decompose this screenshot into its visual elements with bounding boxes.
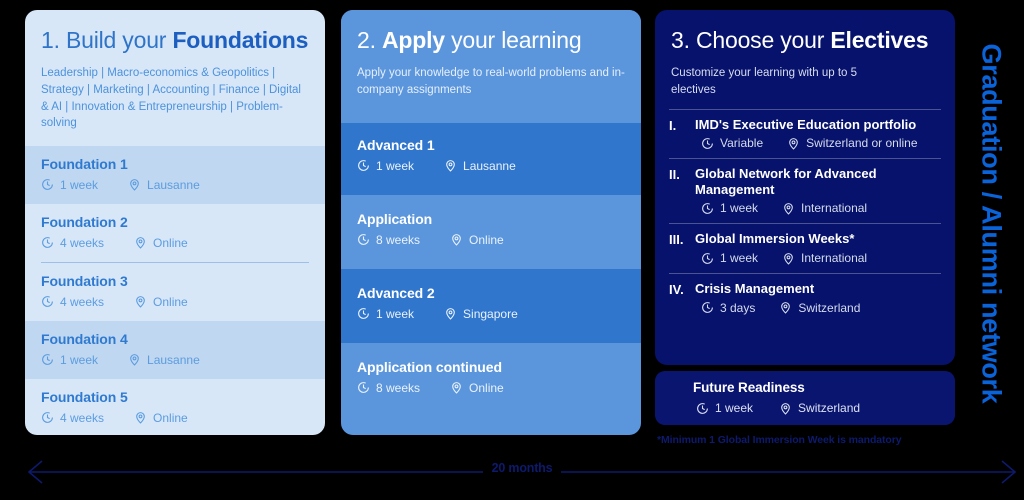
card-foundations-title: 1. Build your Foundations <box>41 28 309 53</box>
location-text: Switzerland <box>798 301 860 315</box>
duration-item: 1 week <box>357 159 414 173</box>
foundation-row-3[interactable]: Foundation 3 4 weeks Online <box>25 263 325 321</box>
duration-item: 1 week <box>701 201 758 215</box>
elective-4-name: Crisis Management <box>695 281 941 297</box>
duration-text: 1 week <box>376 307 414 321</box>
map-pin-icon <box>128 178 141 191</box>
location-item: Online <box>134 236 188 250</box>
duration-item: 4 weeks <box>41 236 104 250</box>
location-text: Lausanne <box>147 353 200 367</box>
map-pin-icon <box>128 353 141 366</box>
location-item: Singapore <box>444 307 518 321</box>
foundation-row-5-name: Foundation 5 <box>41 389 309 405</box>
elective-3-numeral: III. <box>669 231 695 247</box>
clock-icon <box>696 402 709 415</box>
graduation-alumni-label-text: Graduation / Alumni network <box>976 43 1007 403</box>
foundation-row-4-meta: 1 week Lausanne <box>41 353 309 367</box>
elective-item-2[interactable]: II. Global Network for Advanced Manageme… <box>669 158 941 223</box>
map-pin-icon <box>779 402 792 415</box>
location-item: Lausanne <box>128 353 200 367</box>
location-item: Online <box>134 411 188 425</box>
foundation-row-3-name: Foundation 3 <box>41 273 309 289</box>
clock-icon <box>41 295 54 308</box>
location-text: Online <box>153 411 188 425</box>
location-text: International <box>801 201 867 215</box>
card-build-foundations: 1. Build your Foundations Leadership | M… <box>25 10 325 435</box>
clock-icon <box>41 411 54 424</box>
card-foundations-title-plain: 1. Build your <box>41 27 172 53</box>
elective-2-body: Global Network for Advanced Management 1… <box>695 166 941 215</box>
location-text: Switzerland or online <box>806 136 917 150</box>
location-text: Switzerland <box>798 401 860 415</box>
clock-icon <box>701 252 714 265</box>
duration-text: 1 week <box>715 401 753 415</box>
card-electives-title: 3. Choose your Electives <box>671 28 939 53</box>
clock-icon <box>357 307 370 320</box>
location-text: Online <box>153 236 188 250</box>
elective-1-meta: Variable Switzerland or online <box>695 136 941 150</box>
card-foundations-subtitle: Leadership | Macro-economics & Geopoliti… <box>41 65 309 132</box>
location-text: Online <box>469 381 504 395</box>
electives-list: I. IMD's Executive Education portfolio V… <box>655 109 955 323</box>
location-item: International <box>782 251 867 265</box>
foundation-row-2[interactable]: Foundation 2 4 weeks Online <box>25 204 325 262</box>
map-pin-icon <box>779 301 792 314</box>
location-text: Lausanne <box>147 178 200 192</box>
future-readiness-row: Future Readiness 1 week Switzerland <box>655 371 955 425</box>
duration-text: 1 week <box>376 159 414 173</box>
apply-row-2-meta: 8 weeks Online <box>357 233 625 247</box>
program-timeline-infographic: 1. Build your Foundations Leadership | M… <box>0 0 1024 500</box>
duration-item: 4 weeks <box>41 411 104 425</box>
foundation-row-5[interactable]: Foundation 5 4 weeks Online <box>25 379 325 435</box>
card-electives-header: 3. Choose your Electives Customize your … <box>655 10 955 109</box>
duration-item: Variable <box>701 136 763 150</box>
elective-2-name: Global Network for Advanced Management <box>695 166 941 197</box>
duration-text: 4 weeks <box>60 295 104 309</box>
apply-row-3-meta: 1 week Singapore <box>357 307 625 321</box>
card-apply-title-bold: Apply <box>382 27 445 53</box>
card-apply-subtitle: Apply your knowledge to real-world probl… <box>357 65 625 98</box>
map-pin-icon <box>787 137 800 150</box>
location-item: Online <box>450 233 504 247</box>
elective-2-meta: 1 week International <box>695 201 941 215</box>
duration-text: 1 week <box>720 201 758 215</box>
card-foundations-header: 1. Build your Foundations Leadership | M… <box>25 10 325 146</box>
foundation-row-1[interactable]: Foundation 1 1 week Lausanne <box>25 146 325 204</box>
duration-item: 8 weeks <box>357 381 420 395</box>
card-foundations-title-bold: Foundations <box>172 27 308 53</box>
map-pin-icon <box>782 252 795 265</box>
location-item: International <box>782 201 867 215</box>
location-item: Lausanne <box>128 178 200 192</box>
duration-item: 4 weeks <box>41 295 104 309</box>
duration-text: 8 weeks <box>376 381 420 395</box>
clock-icon <box>357 381 370 394</box>
elective-item-4[interactable]: IV. Crisis Management 3 days Switzerland <box>669 273 941 323</box>
future-readiness-meta: 1 week Switzerland <box>693 401 939 415</box>
duration-text: 1 week <box>60 178 98 192</box>
duration-item: 1 week <box>696 401 753 415</box>
footnote-text: *Minimum 1 Global Immersion Week is mand… <box>657 434 977 446</box>
apply-row-4-name: Application continued <box>357 359 625 375</box>
apply-row-4[interactable]: Application continued 8 weeks Online <box>341 343 641 417</box>
foundation-row-5-meta: 4 weeks Online <box>41 411 309 425</box>
foundation-row-1-meta: 1 week Lausanne <box>41 178 309 192</box>
timeline-label-text: 20 months <box>483 461 562 475</box>
elective-4-numeral: IV. <box>669 281 695 297</box>
clock-icon <box>357 159 370 172</box>
elective-2-numeral: II. <box>669 166 695 182</box>
apply-row-2-name: Application <box>357 211 625 227</box>
card-apply-title-plain: 2. <box>357 27 382 53</box>
clock-icon <box>41 353 54 366</box>
clock-icon <box>701 137 714 150</box>
duration-text: 1 week <box>720 251 758 265</box>
apply-row-3-name: Advanced 2 <box>357 285 625 301</box>
card-apply-your-learning: 2. Apply your learning Apply your knowle… <box>341 10 641 435</box>
apply-row-4-meta: 8 weeks Online <box>357 381 625 395</box>
elective-3-meta: 1 week International <box>695 251 941 265</box>
card-electives-title-bold: Electives <box>830 27 928 53</box>
location-item: Online <box>450 381 504 395</box>
elective-3-name: Global Immersion Weeks* <box>695 231 941 247</box>
card-choose-electives: 3. Choose your Electives Customize your … <box>655 10 955 365</box>
apply-row-1-meta: 1 week Lausanne <box>357 159 625 173</box>
elective-3-body: Global Immersion Weeks* 1 week Internati… <box>695 231 941 265</box>
elective-4-body: Crisis Management 3 days Switzerland <box>695 281 941 315</box>
card-apply-header: 2. Apply your learning Apply your knowle… <box>341 10 641 123</box>
location-item: Lausanne <box>444 159 516 173</box>
apply-row-1-name: Advanced 1 <box>357 137 625 153</box>
duration-item: 3 days <box>701 301 755 315</box>
location-text: International <box>801 251 867 265</box>
location-text: Online <box>153 295 188 309</box>
foundation-row-1-name: Foundation 1 <box>41 156 309 172</box>
card-electives-title-plain: 3. Choose your <box>671 27 830 53</box>
map-pin-icon <box>134 295 147 308</box>
elective-4-meta: 3 days Switzerland <box>695 301 941 315</box>
foundation-row-4-name: Foundation 4 <box>41 331 309 347</box>
future-readiness-name: Future Readiness <box>693 380 939 395</box>
location-item: Switzerland or online <box>787 136 917 150</box>
card-apply-title: 2. Apply your learning <box>357 28 625 53</box>
elective-item-1[interactable]: I. IMD's Executive Education portfolio V… <box>669 109 941 159</box>
elective-1-body: IMD's Executive Education portfolio Vari… <box>695 117 941 151</box>
foundation-row-2-name: Foundation 2 <box>41 214 309 230</box>
apply-row-3[interactable]: Advanced 2 1 week Singapore <box>341 269 641 343</box>
graduation-alumni-label: Graduation / Alumni network <box>963 0 1019 446</box>
card-electives-subtitle: Customize your learning with up to 5 ele… <box>671 65 861 98</box>
timeline-20-months: 20 months <box>22 452 1022 492</box>
location-text: Lausanne <box>463 159 516 173</box>
elective-1-name: IMD's Executive Education portfolio <box>695 117 941 133</box>
clock-icon <box>41 236 54 249</box>
duration-text: 1 week <box>60 353 98 367</box>
duration-text: Variable <box>720 136 763 150</box>
elective-item-3[interactable]: III. Global Immersion Weeks* 1 week Inte… <box>669 223 941 273</box>
map-pin-icon <box>134 411 147 424</box>
elective-1-numeral: I. <box>669 117 695 133</box>
map-pin-icon <box>782 202 795 215</box>
duration-text: 3 days <box>720 301 755 315</box>
duration-item: 1 week <box>41 353 98 367</box>
card-future-readiness[interactable]: Future Readiness 1 week Switzerland <box>655 371 955 425</box>
map-pin-icon <box>444 307 457 320</box>
apply-row-1[interactable]: Advanced 1 1 week Lausanne <box>341 123 641 195</box>
duration-item: 1 week <box>701 251 758 265</box>
map-pin-icon <box>444 159 457 172</box>
location-item: Switzerland <box>779 301 860 315</box>
map-pin-icon <box>134 236 147 249</box>
clock-icon <box>701 301 714 314</box>
card-apply-title-tail: your learning <box>445 27 582 53</box>
clock-icon <box>41 178 54 191</box>
duration-text: 8 weeks <box>376 233 420 247</box>
duration-item: 1 week <box>357 307 414 321</box>
clock-icon <box>357 233 370 246</box>
duration-text: 4 weeks <box>60 411 104 425</box>
foundation-row-2-meta: 4 weeks Online <box>41 236 309 250</box>
location-item: Online <box>134 295 188 309</box>
foundation-row-4[interactable]: Foundation 4 1 week Lausanne <box>25 321 325 379</box>
map-pin-icon <box>450 381 463 394</box>
timeline-label: 20 months <box>22 461 1022 475</box>
location-text: Online <box>469 233 504 247</box>
foundation-row-3-meta: 4 weeks Online <box>41 295 309 309</box>
location-text: Singapore <box>463 307 518 321</box>
duration-item: 8 weeks <box>357 233 420 247</box>
duration-text: 4 weeks <box>60 236 104 250</box>
clock-icon <box>701 202 714 215</box>
duration-item: 1 week <box>41 178 98 192</box>
apply-row-2[interactable]: Application 8 weeks Online <box>341 195 641 269</box>
location-item: Switzerland <box>779 401 860 415</box>
map-pin-icon <box>450 233 463 246</box>
